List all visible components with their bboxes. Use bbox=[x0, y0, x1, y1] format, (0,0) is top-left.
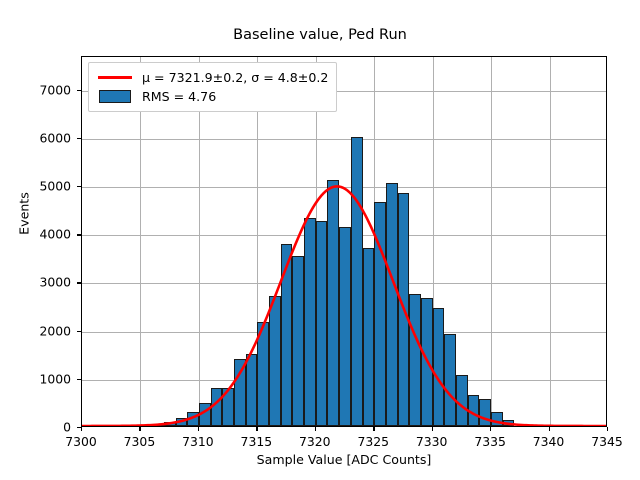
x-tick-label: 7325 bbox=[357, 434, 389, 449]
x-tick-mark bbox=[139, 427, 140, 431]
chart-title: Baseline value, Ped Run bbox=[0, 27, 640, 43]
x-tick-label: 7315 bbox=[241, 434, 273, 449]
x-tick-label: 7345 bbox=[591, 434, 623, 449]
y-tick-mark bbox=[77, 379, 81, 380]
x-tick-label: 7340 bbox=[533, 434, 565, 449]
legend-label-rms: RMS = 4.76 bbox=[142, 89, 216, 104]
y-tick-label: 2000 bbox=[5, 323, 71, 338]
y-tick-mark bbox=[77, 331, 81, 332]
x-tick-mark bbox=[607, 427, 608, 431]
y-tick-mark bbox=[77, 186, 81, 187]
x-tick-mark bbox=[490, 427, 491, 431]
x-tick-mark bbox=[81, 427, 82, 431]
legend-item-rms: RMS = 4.76 bbox=[96, 87, 328, 106]
gaussian-fit-curve bbox=[82, 57, 606, 426]
y-tick-label: 3000 bbox=[5, 275, 71, 290]
chart-figure: Baseline value, Ped Run 7300730573107315… bbox=[0, 0, 640, 480]
x-tick-label: 7320 bbox=[299, 434, 331, 449]
x-tick-label: 7335 bbox=[474, 434, 506, 449]
x-tick-mark bbox=[432, 427, 433, 431]
x-tick-mark bbox=[198, 427, 199, 431]
y-tick-mark bbox=[77, 234, 81, 235]
y-tick-mark bbox=[77, 282, 81, 283]
y-tick-label: 7000 bbox=[5, 82, 71, 97]
legend-patch-icon bbox=[96, 90, 134, 103]
x-tick-label: 7330 bbox=[416, 434, 448, 449]
x-tick-mark bbox=[315, 427, 316, 431]
y-axis-label: Events bbox=[17, 154, 32, 274]
y-tick-mark bbox=[77, 427, 81, 428]
x-tick-mark bbox=[549, 427, 550, 431]
legend-label-fit: μ = 7321.9±0.2, σ = 4.8±0.2 bbox=[142, 70, 328, 85]
y-tick-label: 6000 bbox=[5, 130, 71, 145]
x-tick-label: 7310 bbox=[182, 434, 214, 449]
legend-item-fit: μ = 7321.9±0.2, σ = 4.8±0.2 bbox=[96, 68, 328, 87]
y-tick-mark bbox=[77, 90, 81, 91]
y-tick-label: 0 bbox=[5, 420, 71, 435]
x-axis-label: Sample Value [ADC Counts] bbox=[81, 452, 607, 467]
chart-legend: μ = 7321.9±0.2, σ = 4.8±0.2 RMS = 4.76 bbox=[88, 62, 337, 112]
legend-line-icon bbox=[96, 76, 134, 79]
x-tick-label: 7300 bbox=[65, 434, 97, 449]
y-tick-label: 5000 bbox=[5, 179, 71, 194]
x-tick-mark bbox=[256, 427, 257, 431]
y-tick-label: 4000 bbox=[5, 227, 71, 242]
y-tick-label: 1000 bbox=[5, 371, 71, 386]
x-tick-mark bbox=[373, 427, 374, 431]
y-tick-mark bbox=[77, 138, 81, 139]
x-tick-label: 7305 bbox=[124, 434, 156, 449]
